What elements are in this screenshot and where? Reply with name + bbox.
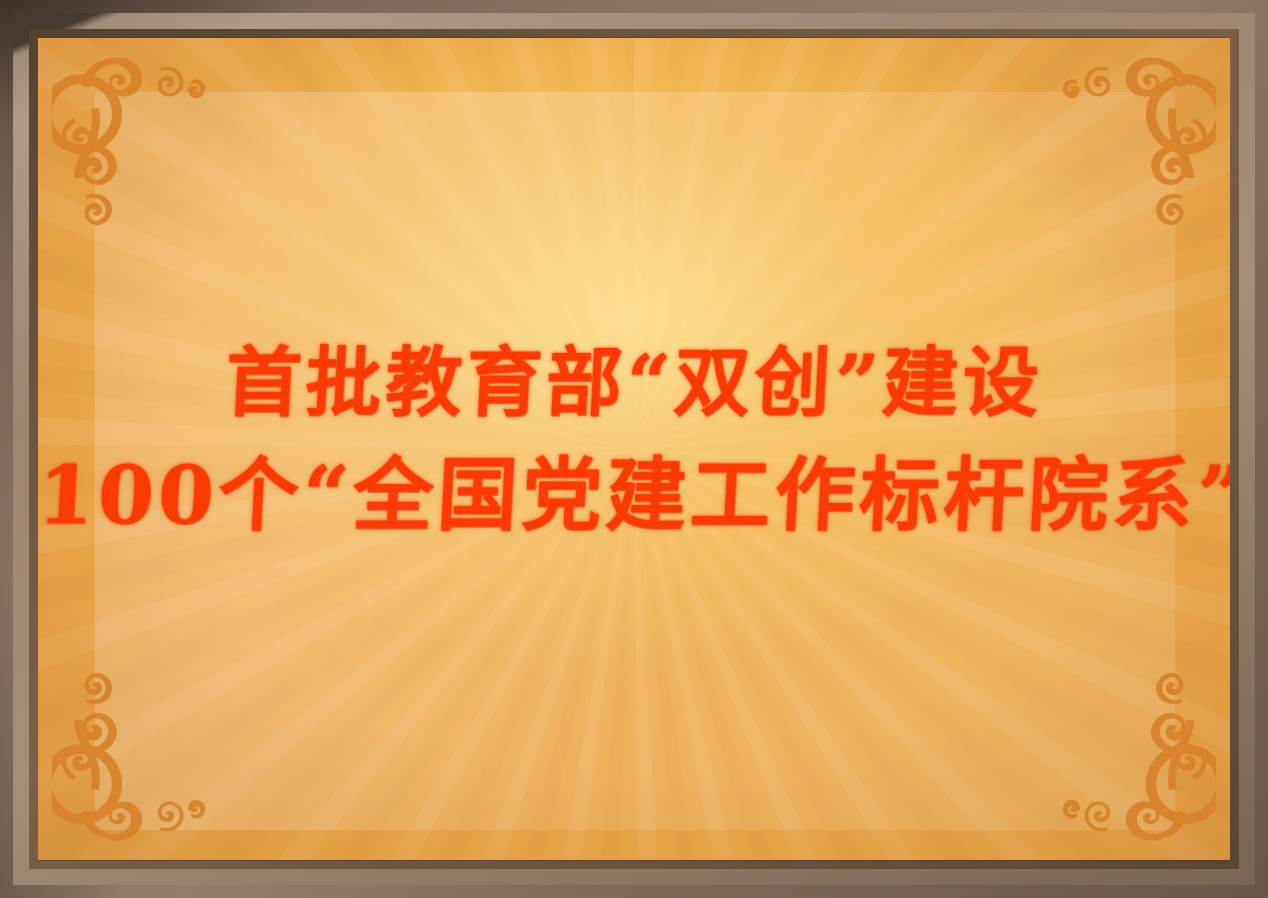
gold-field: 首批教育部“双创”建设 100个“全国党建工作标杆院系” <box>38 38 1230 860</box>
corner-scroll-ornament-top-right <box>1048 50 1216 228</box>
frame-hairline-bottom <box>38 860 1230 861</box>
corner-scroll-ornament-bottom-left <box>52 670 220 848</box>
award-plaque: 首批教育部“双创”建设 100个“全国党建工作标杆院系” <box>0 0 1268 898</box>
frame-hairline-top <box>38 37 1230 38</box>
corner-scroll-ornament-bottom-right <box>1048 670 1216 848</box>
corner-scroll-ornament-top-left <box>52 50 220 228</box>
